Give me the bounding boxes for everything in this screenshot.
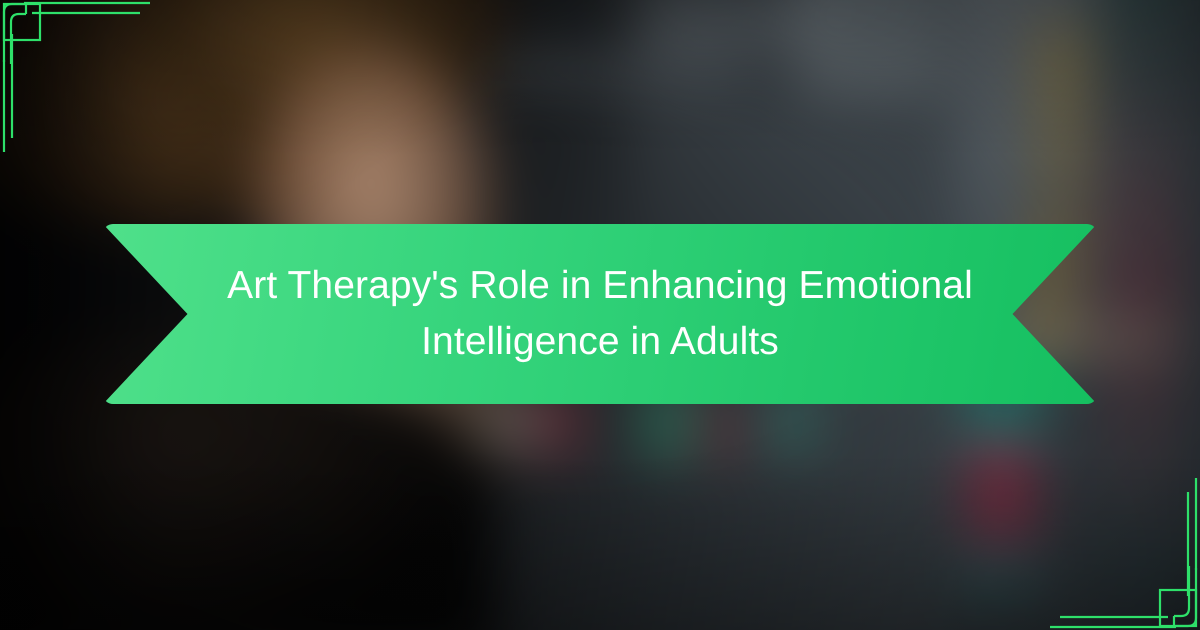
social-card: Art Therapy's Role in Enhancing Emotiona… — [0, 0, 1200, 630]
background-teal-container-lower — [960, 543, 1039, 596]
background-rack-far-right — [1098, 0, 1183, 596]
page-title: Art Therapy's Role in Enhancing Emotiona… — [223, 258, 977, 370]
background-shelf-bar-lower — [489, 55, 743, 80]
title-ribbon: Art Therapy's Role in Enhancing Emotiona… — [103, 224, 1097, 404]
background-left-shadow — [0, 0, 165, 630]
background-shelf-bar — [642, 8, 833, 36]
background-red-item-b — [706, 400, 740, 458]
